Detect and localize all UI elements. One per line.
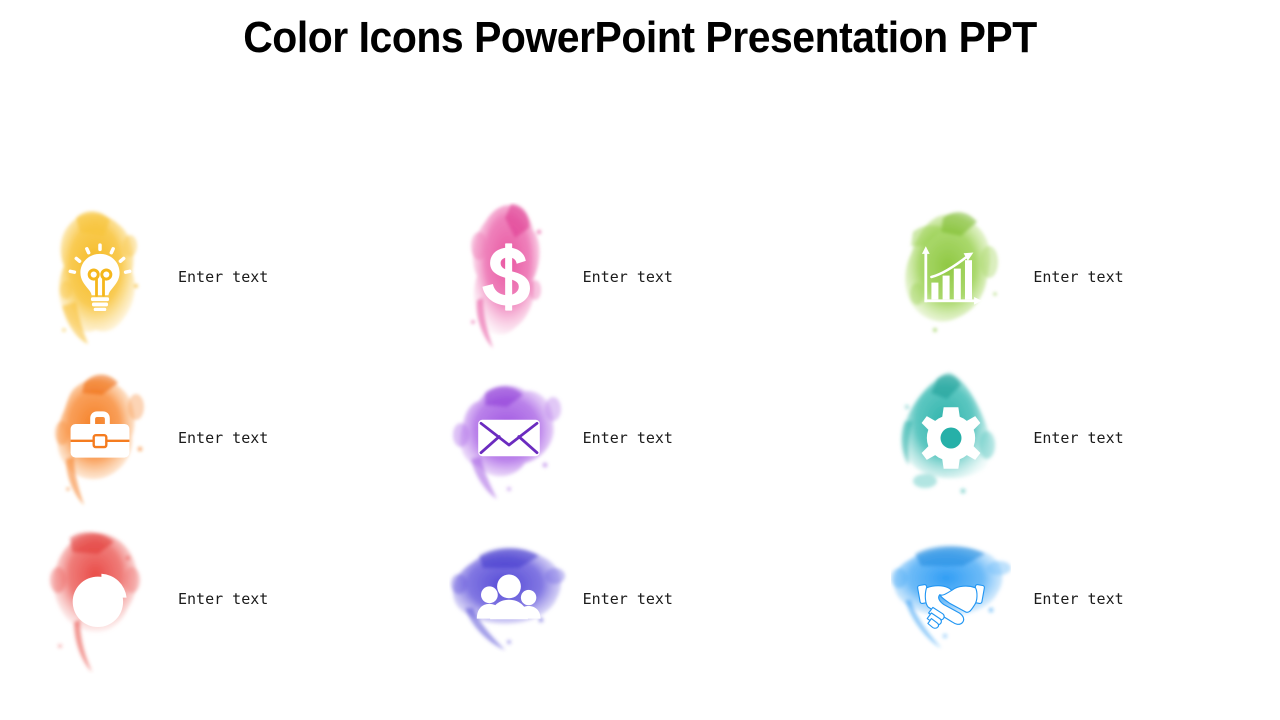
icon-item-label: Enter text — [178, 590, 268, 608]
icon-item-label: Enter text — [1033, 268, 1123, 286]
icon-item-label: Enter text — [1033, 429, 1123, 447]
splash-wrap-handshake — [891, 524, 1011, 674]
handshake-icon — [916, 564, 986, 634]
splash-wrap-pie-chart — [40, 524, 160, 674]
dollar-sign-icon — [474, 242, 544, 312]
icon-item-briefcase[interactable]: Enter text — [0, 357, 427, 518]
splash-wrap-envelope — [449, 363, 569, 513]
icon-item-users[interactable]: Enter text — [427, 518, 854, 679]
icon-item-bar-chart[interactable]: Enter text — [853, 196, 1280, 357]
icon-item-gear[interactable]: Enter text — [853, 357, 1280, 518]
icon-item-handshake[interactable]: Enter text — [853, 518, 1280, 679]
page-title: Color Icons PowerPoint Presentation PPT — [45, 12, 1235, 64]
envelope-icon — [474, 403, 544, 473]
splash-wrap-bar-chart — [891, 202, 1011, 352]
splash-wrap-dollar — [449, 202, 569, 352]
icon-item-label: Enter text — [178, 429, 268, 447]
icon-item-label: Enter text — [1033, 590, 1123, 608]
lightbulb-icon — [65, 242, 135, 312]
icon-item-label: Enter text — [583, 590, 673, 608]
splash-wrap-briefcase — [40, 363, 160, 513]
splash-wrap-users — [449, 524, 569, 674]
briefcase-icon — [65, 403, 135, 473]
icon-item-lightbulb[interactable]: Enter text — [0, 196, 427, 357]
icon-grid: Enter text — [0, 196, 1280, 696]
icon-item-label: Enter text — [178, 268, 268, 286]
splash-wrap-gear — [891, 363, 1011, 513]
icon-item-envelope[interactable]: Enter text — [427, 357, 854, 518]
presentation-slide: Color Icons PowerPoint Presentation PPT — [0, 0, 1280, 720]
pie-chart-icon — [65, 564, 135, 634]
gear-icon — [916, 403, 986, 473]
users-group-icon — [474, 564, 544, 634]
icon-item-dollar[interactable]: Enter text — [427, 196, 854, 357]
icon-item-label: Enter text — [583, 268, 673, 286]
bar-chart-growth-icon — [916, 242, 986, 312]
splash-wrap-lightbulb — [40, 202, 160, 352]
icon-item-label: Enter text — [583, 429, 673, 447]
icon-item-pie-chart[interactable]: Enter text — [0, 518, 427, 679]
